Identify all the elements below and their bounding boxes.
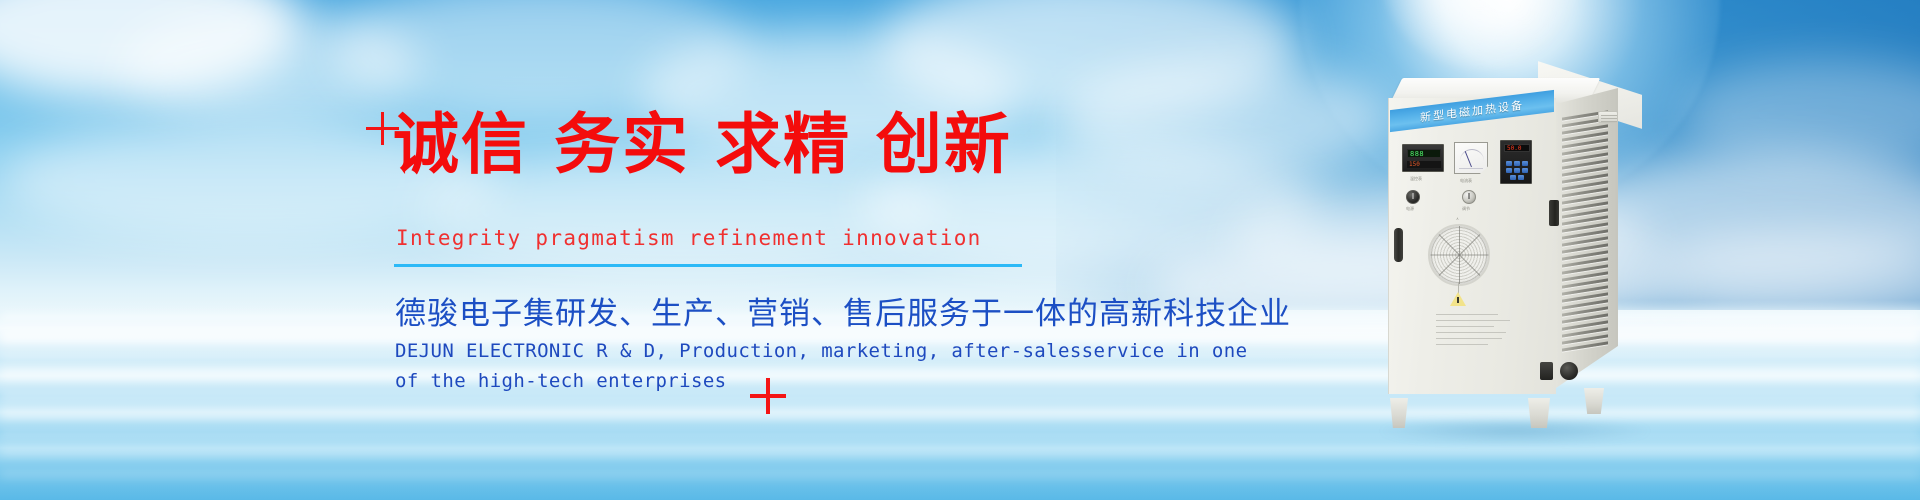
digital-controller-caption: 温控表 (1410, 176, 1422, 182)
controller-setpoint-value: 150 (1409, 161, 1420, 168)
keypad-key[interactable] (1522, 168, 1528, 173)
headline-english: Integrity pragmatism refinement innovati… (396, 226, 982, 250)
info-line (1436, 338, 1502, 339)
banner-copy: 诚信 务实 求精 创新 Integrity pragmatism refinem… (0, 0, 1100, 500)
machine-foot (1390, 398, 1408, 428)
cable-port-rectangular (1540, 362, 1553, 380)
cable-port-round (1560, 362, 1578, 380)
gauge-scale (1459, 168, 1483, 169)
side-handle[interactable] (1394, 228, 1403, 262)
tagline-english-line2: of the high-tech enterprises (395, 370, 727, 392)
keypad-led-display: 50.0 (1504, 144, 1530, 152)
adjustment-knob[interactable] (1462, 190, 1476, 204)
control-keypad[interactable]: 50.0 (1500, 140, 1532, 184)
keypad-key[interactable] (1522, 161, 1528, 166)
keypad-key[interactable] (1514, 168, 1520, 173)
gauge-caption: 电流表 (1460, 178, 1472, 184)
keypad-key[interactable] (1514, 161, 1520, 166)
controller-value: 888 (1410, 151, 1424, 158)
door-handle[interactable] (1549, 200, 1559, 226)
controller-display: 888 (1407, 149, 1441, 158)
cooling-fan-grille (1428, 224, 1490, 286)
machine-foot (1528, 398, 1550, 428)
info-line (1436, 332, 1506, 333)
plus-mark-icon (750, 378, 786, 414)
keypad-key[interactable] (1506, 161, 1512, 166)
top-vent-grille (1598, 111, 1618, 123)
keypad-key[interactable] (1518, 175, 1524, 180)
divider-rule (394, 264, 1022, 267)
warning-triangle-icon (1450, 292, 1466, 306)
info-line (1436, 326, 1494, 327)
keypad-key[interactable] (1506, 168, 1512, 173)
ventilation-louvers (1562, 114, 1612, 350)
fan-spokes (1430, 226, 1488, 284)
power-selector-knob[interactable] (1406, 190, 1420, 204)
heating-equipment-product: 新型电磁加热设备 888 150 温控表 (1388, 78, 1638, 428)
keypad-led-value: 50.0 (1507, 145, 1521, 153)
promotional-banner: 诚信 务实 求精 创新 Integrity pragmatism refinem… (0, 0, 1920, 500)
adjustment-knob-caption: 调节 (1462, 206, 1470, 212)
fan-marking: ∧ (1456, 216, 1459, 221)
plus-mark-icon (366, 112, 399, 145)
controller-setpoint: 150 (1407, 161, 1441, 168)
digital-temperature-controller[interactable]: 888 150 (1402, 144, 1444, 172)
keypad-key[interactable] (1510, 175, 1516, 180)
power-knob-caption: 电源 (1406, 206, 1414, 212)
info-line (1436, 320, 1510, 321)
keypad-buttons[interactable] (1506, 161, 1528, 181)
machine-info-plate (1436, 314, 1516, 350)
headline-chinese: 诚信 务实 求精 创新 (393, 112, 1012, 178)
tagline-chinese: 德骏电子集研发、生产、营销、售后服务于一体的高新科技企业 (395, 288, 1291, 333)
tagline-english-line1: DEJUN ELECTRONIC R & D, Production, mark… (395, 340, 1247, 362)
info-line (1436, 344, 1488, 345)
analog-ammeter-gauge (1454, 142, 1488, 174)
info-line (1436, 314, 1498, 315)
machine-foot (1584, 388, 1604, 414)
